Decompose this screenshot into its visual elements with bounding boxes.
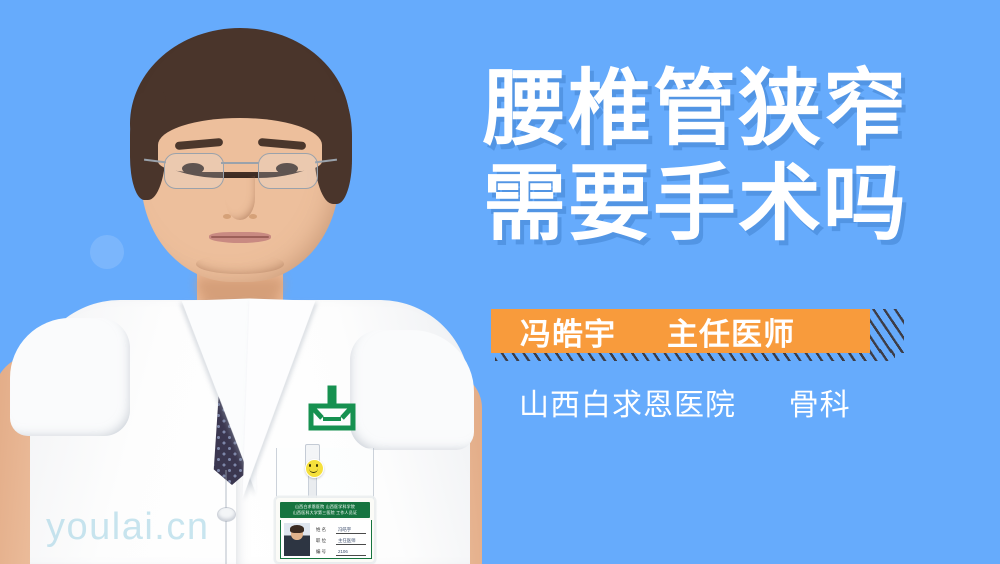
crown-emblem-icon bbox=[306, 384, 358, 432]
id-card-header-line2: 山西医科大学第三医院 工作人员证 bbox=[280, 510, 370, 516]
page-title-line-2: 需要手术吗 bbox=[483, 158, 953, 250]
id-card-header-line1: 山西白求恩医院 山西医学科学院 bbox=[280, 504, 370, 510]
poster-root: 山西白求恩医院 山西医学科学院 山西医科大学第三医院 工作人员证 姓 名 冯皓宇… bbox=[0, 0, 1000, 564]
staff-id-card: 山西白求恩医院 山西医学科学院 山西医科大学第三医院 工作人员证 姓 名 冯皓宇… bbox=[276, 498, 374, 562]
doctor-portrait-photo: 山西白求恩医院 山西医学科学院 山西医科大学第三医院 工作人员证 姓 名 冯皓宇… bbox=[0, 0, 470, 564]
eyeglasses-right-lens bbox=[258, 153, 318, 189]
left-nostril bbox=[223, 214, 231, 219]
right-nostril bbox=[249, 214, 257, 219]
hospital-name: 山西白求恩医院 bbox=[519, 389, 736, 422]
lab-coat-button bbox=[218, 508, 235, 521]
id-photo-hair bbox=[290, 525, 304, 533]
id-field-rule-0 bbox=[336, 533, 366, 534]
chest-pocket bbox=[276, 448, 374, 505]
doctor-name: 冯皓宇 bbox=[520, 309, 616, 354]
eyeglasses-left-lens bbox=[164, 153, 224, 189]
doctor-title: 主任医师 bbox=[667, 309, 795, 354]
id-field-label-0: 姓 名 bbox=[316, 527, 326, 533]
id-field-value-2: 2106 bbox=[338, 549, 348, 554]
id-field-label-1: 职 位 bbox=[316, 538, 326, 544]
doctor-credential-badge: 冯皓宇 主任医师 bbox=[491, 309, 870, 353]
id-card-header: 山西白求恩医院 山西医学科学院 山西医科大学第三医院 工作人员证 bbox=[280, 502, 370, 518]
id-card-photo bbox=[284, 523, 310, 556]
id-field-rule-2 bbox=[336, 555, 366, 556]
chin-shadow bbox=[196, 254, 284, 274]
lab-coat-left-sleeve bbox=[10, 318, 130, 436]
hospital-department-line: 山西白求恩医院 骨科 bbox=[519, 380, 851, 424]
watermark: youlai.cn bbox=[46, 506, 209, 549]
department-name: 骨科 bbox=[789, 389, 851, 422]
lab-coat-lapel-left bbox=[160, 298, 257, 497]
page-title-line-1: 腰椎管狭窄 bbox=[483, 63, 953, 155]
id-field-label-2: 编 号 bbox=[316, 549, 326, 555]
lip-line bbox=[211, 236, 269, 238]
eyeglasses-bridge bbox=[221, 162, 259, 164]
id-field-rule-1 bbox=[336, 544, 366, 545]
lab-coat-right-sleeve bbox=[350, 330, 474, 450]
